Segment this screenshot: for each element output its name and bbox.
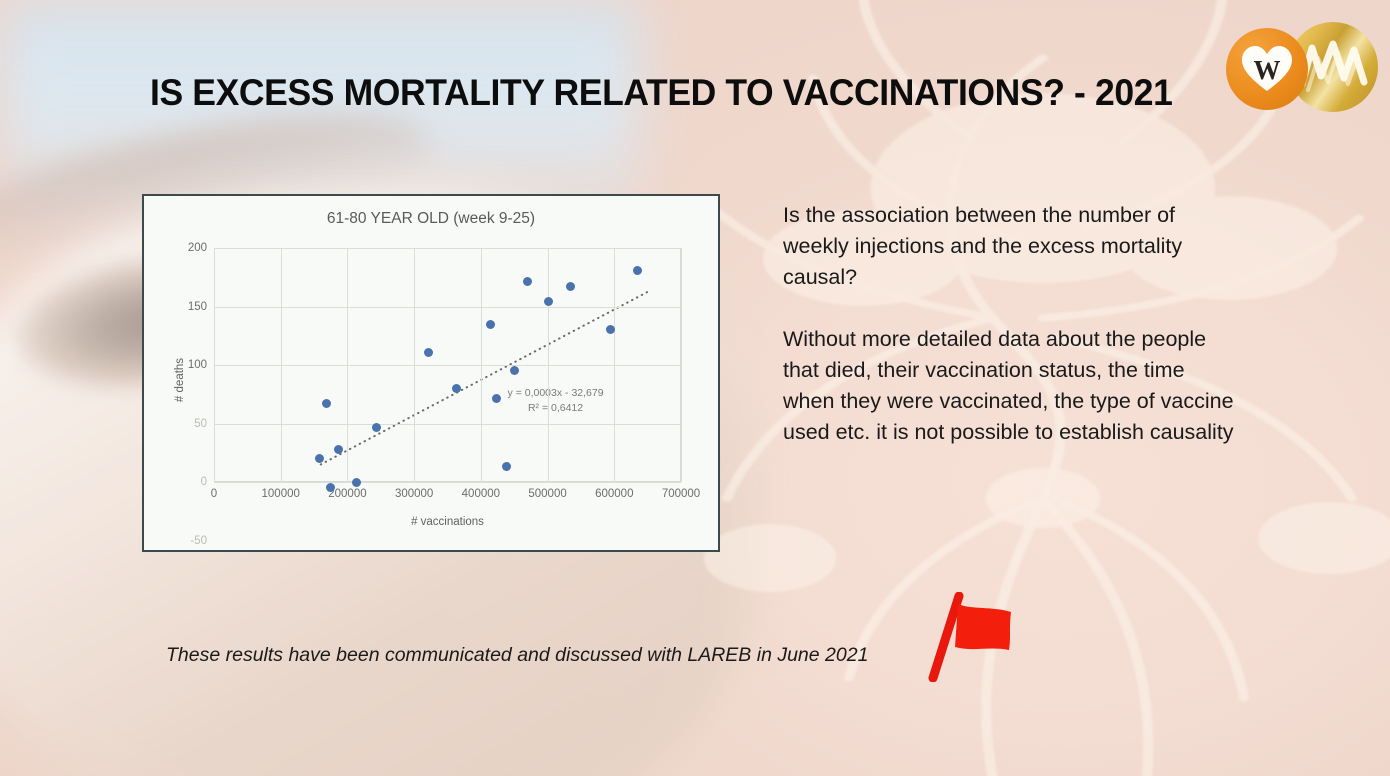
chart-trendline-path	[321, 290, 651, 464]
chart-y-axis-label: # deaths	[174, 358, 186, 402]
red-flag-icon	[925, 592, 1021, 682]
slide: IS EXCESS MORTALITY RELATED TO VACCINATI…	[0, 0, 1390, 776]
chart-gridline-vertical	[681, 248, 682, 482]
chart-gridline-vertical	[614, 248, 615, 482]
body-paragraph-1: Is the association between the number of…	[783, 200, 1235, 293]
chart-x-tick-label: 600000	[595, 488, 633, 500]
page-title: IS EXCESS MORTALITY RELATED TO VACCINATI…	[150, 72, 1172, 114]
chart-gridline-horizontal	[214, 248, 681, 249]
chart-gridline-vertical	[414, 248, 415, 482]
scatter-chart-card: 61-80 YEAR OLD (week 9-25) # deaths y = …	[142, 194, 720, 552]
orange-heart-logo-icon: W	[1226, 28, 1308, 110]
chart-x-tick-label: 300000	[395, 488, 433, 500]
heart-icon: W	[1240, 44, 1294, 94]
chart-y-tick-label: 100	[188, 359, 207, 371]
chart-equation-annotation: y = 0,0003x - 32,679 R² = 0,6412	[508, 386, 604, 416]
chart-gridline-horizontal	[214, 307, 681, 308]
chart-data-point	[315, 454, 324, 463]
chart-y-tick-label: 150	[188, 301, 207, 313]
body-paragraph-2: Without more detailed data about the peo…	[783, 324, 1235, 448]
chart-x-tick-label: 100000	[262, 488, 300, 500]
chart-x-axis-label: # vaccinations	[214, 516, 681, 528]
chart-data-point	[322, 399, 331, 408]
chart-gridline-vertical	[347, 248, 348, 482]
chart-y-tick-label: -50	[190, 535, 207, 547]
chart-data-point	[544, 297, 553, 306]
chart-data-point	[566, 282, 575, 291]
chart-x-tick-label: 500000	[528, 488, 566, 500]
chart-title: 61-80 YEAR OLD (week 9-25)	[144, 210, 718, 228]
chart-equation-text: y = 0,0003x - 32,679	[508, 386, 604, 401]
chart-y-tick-label: 50	[194, 418, 207, 430]
chart-y-tick-label: 200	[188, 242, 207, 254]
chart-gridline-vertical	[548, 248, 549, 482]
chart-data-point	[326, 483, 335, 492]
chart-gridline-horizontal	[214, 365, 681, 366]
chart-x-tick-label: 400000	[462, 488, 500, 500]
chart-x-tick-label: 700000	[662, 488, 700, 500]
chart-data-point	[334, 445, 343, 454]
chart-data-point	[452, 384, 461, 393]
chart-data-point	[372, 423, 381, 432]
footer-note: These results have been communicated and…	[166, 644, 868, 667]
body-text-block: Is the association between the number of…	[783, 200, 1235, 448]
logo-letter: W	[1254, 57, 1281, 84]
chart-x-tick-label: 0	[211, 488, 217, 500]
chart-y-tick-label: 0	[201, 476, 207, 488]
chart-data-point	[352, 478, 361, 487]
chart-gridline-horizontal	[214, 482, 681, 483]
chart-data-point	[486, 320, 495, 329]
chart-gridline-vertical	[481, 248, 482, 482]
chart-r-squared-text: R² = 0,6412	[508, 401, 604, 416]
chart-gridline-horizontal	[214, 424, 681, 425]
chart-gridline-vertical	[281, 248, 282, 482]
chart-plot-area: y = 0,0003x - 32,679 R² = 0,6412 2001501…	[214, 248, 681, 482]
chart-data-point	[633, 266, 642, 275]
chart-data-point	[510, 366, 519, 375]
paragraph-spacer	[783, 293, 1235, 324]
chart-gridline-vertical	[214, 248, 215, 482]
chart-data-point	[424, 348, 433, 357]
logo: W	[1226, 22, 1378, 116]
